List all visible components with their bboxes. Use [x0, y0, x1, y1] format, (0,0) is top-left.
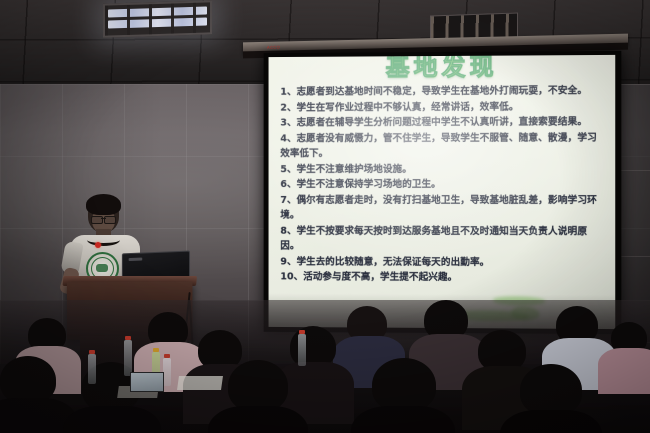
presentation-slide: 基地发现 1、志愿者到达基地时间不稳定，导致学生在基地外打闹玩耍，不安全。 2、…: [269, 55, 616, 329]
slide-line: 8、学生不按要求每天按时到达服务基地且不及时通知当天负责人说明原因。: [280, 224, 605, 256]
slide-title: 基地发现: [280, 55, 605, 80]
ceiling-light-icon: [103, 0, 212, 37]
housing-label: ACCO: [267, 45, 280, 50]
audience-person: [228, 360, 294, 433]
bottle-cap: [89, 350, 95, 354]
logo-core: [96, 264, 108, 272]
person-head: [520, 364, 582, 416]
slide-line: 2、学生在写作业过程中不够认真，经常讲话，效率低。: [280, 99, 605, 116]
person-body: [208, 406, 308, 433]
water-bottle: [163, 358, 171, 386]
slide-body: 1、志愿者到达基地时间不稳定，导致学生在基地外打闹玩耍，不安全。 2、学生在写作…: [280, 83, 605, 286]
person-body: [63, 406, 161, 433]
person-head: [228, 360, 288, 412]
presenter-collar: [87, 234, 120, 246]
audience-person: [372, 358, 442, 433]
slide-line: 5、学生不注意维护场地设施。: [280, 161, 605, 177]
audience-person: [0, 356, 62, 433]
light-louvers: [105, 2, 210, 35]
projector-screen: 基地发现 1、志愿者到达基地时间不稳定，导致学生在基地外打闹玩耍，不安全。 2、…: [269, 55, 616, 329]
slide-line: 7、偶尔有志愿者走时，没有打扫基地卫生，导致基地脏乱差，影响学习环境。: [280, 193, 605, 224]
photo-scene: ACCO 基地发现 1、志愿者到达基地时间不稳定，导致学生在基地外打闹玩耍，不安…: [0, 0, 650, 433]
paper-sheet: [177, 376, 223, 390]
bottle-cap: [164, 354, 170, 358]
slide-line: 1、志愿者到达基地时间不稳定，导致学生在基地外打闹玩耍，不安全。: [280, 83, 605, 100]
audience-person: [556, 306, 604, 368]
red-badge-icon: [95, 242, 101, 248]
glasses-bridge: [101, 218, 106, 219]
presenter-hair: [86, 194, 121, 215]
person-head: [0, 356, 56, 404]
water-bottle: [124, 340, 132, 376]
audience-person: [424, 300, 474, 366]
audience-person: [611, 322, 650, 378]
water-bottle: [88, 354, 96, 384]
bottle-cap: [125, 336, 131, 340]
laptop-logo-icon: [129, 258, 143, 262]
audience-person: [520, 364, 588, 433]
slide-line: 10、活动参与度不高，学生提不起兴趣。: [280, 270, 605, 287]
glasses-icon: [91, 216, 116, 222]
bottle-cap: [299, 330, 305, 334]
slide-line: 9、学生去的比较随意，无法保证每天的出勤率。: [280, 254, 605, 271]
person-head: [372, 358, 436, 412]
audience-laptop: [130, 372, 164, 392]
slide-line: 4、志愿者没有威慑力，管不住学生，导致学生不服管、随意、散漫，学习效率低下。: [280, 130, 605, 162]
slide-line: 3、志愿者在辅导学生分析问题过程中学生不认真听讲，直接索要结果。: [280, 114, 605, 131]
bottle-cap: [153, 348, 159, 352]
slide-line: 6、学生不注意保持学习场地的卫生。: [280, 177, 605, 193]
water-bottle: [298, 334, 306, 366]
person-body: [351, 406, 455, 433]
person-body: [500, 410, 602, 433]
projector-screen-frame: 基地发现 1、志愿者到达基地时间不稳定，导致学生在基地外打闹玩耍，不安全。 2、…: [264, 51, 622, 334]
person-body: [598, 348, 650, 394]
audience-area: [0, 300, 650, 433]
